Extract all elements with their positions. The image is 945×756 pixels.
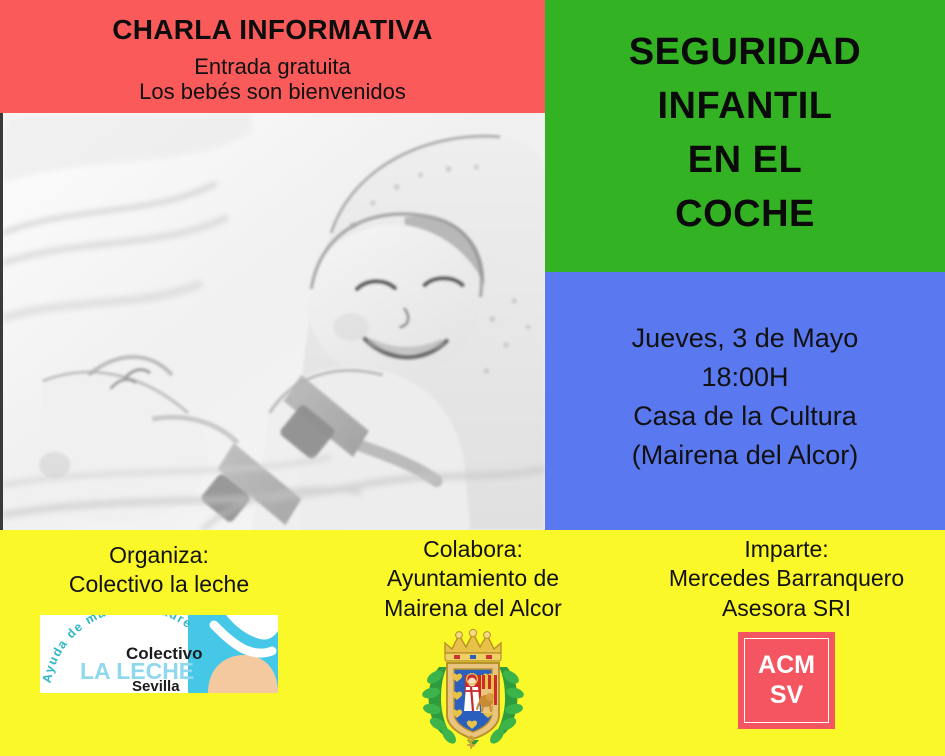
acm-sv-line-2: SV [770,681,803,711]
event-location: (Mairena del Alcor) [632,436,859,475]
mairena-del-alcor-coat-of-arms [421,627,525,749]
main-title-line-3: EN EL [688,134,802,188]
footer-credits: Organiza: Colectivo la leche [0,530,945,756]
event-date: Jueves, 3 de Mayo [632,319,859,358]
main-title-line-2: INFANTIL [658,80,833,134]
footer-column-organiza: Organiza: Colectivo la leche [0,530,318,756]
main-title-panel: SEGURIDAD INFANTIL EN EL COCHE [545,0,945,272]
crown-icon [445,630,501,662]
baby-car-seat-sketch-icon [3,113,545,530]
event-details-panel: Jueves, 3 de Mayo 18:00H Casa de la Cult… [545,272,945,530]
colectivo-la-leche-logo: Ayuda de madre a madre Colectivo LA LECH… [40,615,278,693]
organiza-label: Organiza: [109,541,209,570]
colabora-label: Colabora: [423,535,523,564]
organiza-name: Colectivo la leche [69,570,249,599]
imparte-role: Asesora SRI [722,594,851,623]
colectivo-la-leche-logo-icon: Ayuda de madre a madre Colectivo LA LECH… [40,615,278,693]
header-subtitle-line-1: Entrada gratuita [0,55,545,80]
main-title-line-4: COCHE [675,188,815,242]
colabora-name-line-1: Ayuntamiento de [387,564,559,593]
header-subtitle: Entrada gratuita Los bebés son bienvenid… [0,55,545,104]
baby-car-seat-photo [0,113,545,530]
colabora-name-line-2: Mairena del Alcor [384,594,562,623]
page-title: CHARLA INFORMATIVA [0,14,545,46]
acm-sv-logo: ACM SV [738,632,835,729]
header-banner: CHARLA INFORMATIVA Entrada gratuita Los … [0,0,545,113]
poster: CHARLA INFORMATIVA Entrada gratuita Los … [0,0,945,756]
coat-of-arms-icon [421,627,525,749]
event-time: 18:00H [701,358,788,397]
imparte-name: Mercedes Barranquero [669,564,904,593]
main-title-line-1: SEGURIDAD [629,26,862,80]
footer-column-imparte: Imparte: Mercedes Barranquero Asesora SR… [628,530,945,756]
logo-line-sevilla: Sevilla [132,678,180,693]
acm-sv-line-1: ACM [758,651,815,681]
footer-column-colabora: Colabora: Ayuntamiento de Mairena del Al… [318,530,628,756]
imparte-label: Imparte: [744,535,828,564]
acm-sv-logo-inner: ACM SV [744,638,829,723]
event-venue: Casa de la Cultura [633,397,857,436]
header-subtitle-line-2: Los bebés son bienvenidos [0,80,545,105]
